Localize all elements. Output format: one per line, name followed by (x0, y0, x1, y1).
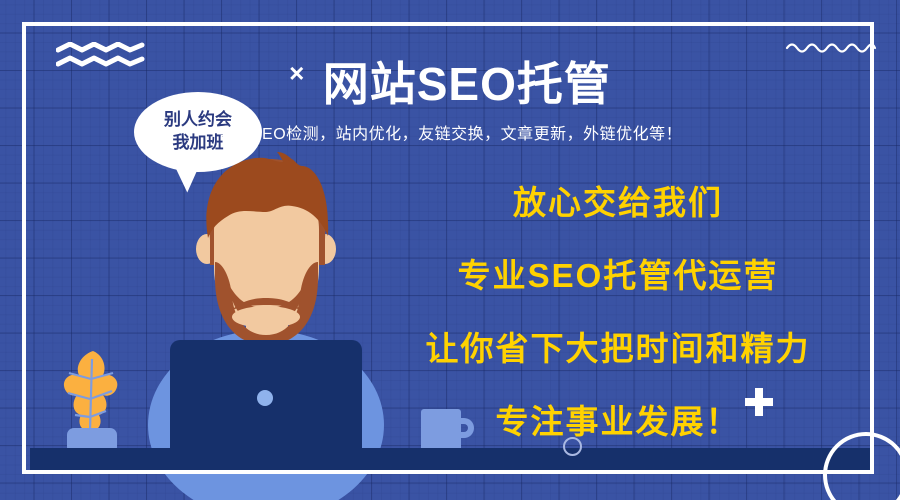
page-title: 网站SEO托管 (323, 48, 611, 114)
slogan-line: 专注事业发展！ (392, 405, 844, 438)
potted-plant-icon (55, 345, 133, 455)
seo-promo-banner: 别人约会 我加班 × 网站SEO托管 含：SEO检测，站内优化，友链交换，文章更… (0, 0, 900, 500)
page-subtitle: 含：SEO检测，站内优化，友链交换，文章更新，外链优化等！ (0, 120, 900, 144)
circle-outline-icon (563, 437, 582, 456)
cross-icon: × (289, 58, 304, 89)
slogan-line: 放心交给我们 (392, 186, 844, 219)
desk-surface (30, 448, 870, 473)
slogan-line: 让你省下大把时间和精力 (392, 332, 844, 365)
slogan-list: 放心交给我们 专业SEO托管代运营 让你省下大把时间和精力 专注事业发展！ (392, 186, 844, 438)
slogan-line: 专业SEO托管代运营 (392, 259, 844, 292)
plus-icon (745, 388, 773, 416)
laptop-logo-icon (257, 390, 273, 406)
wave-lines-icon (56, 42, 148, 68)
squiggle-line-icon (785, 40, 877, 54)
